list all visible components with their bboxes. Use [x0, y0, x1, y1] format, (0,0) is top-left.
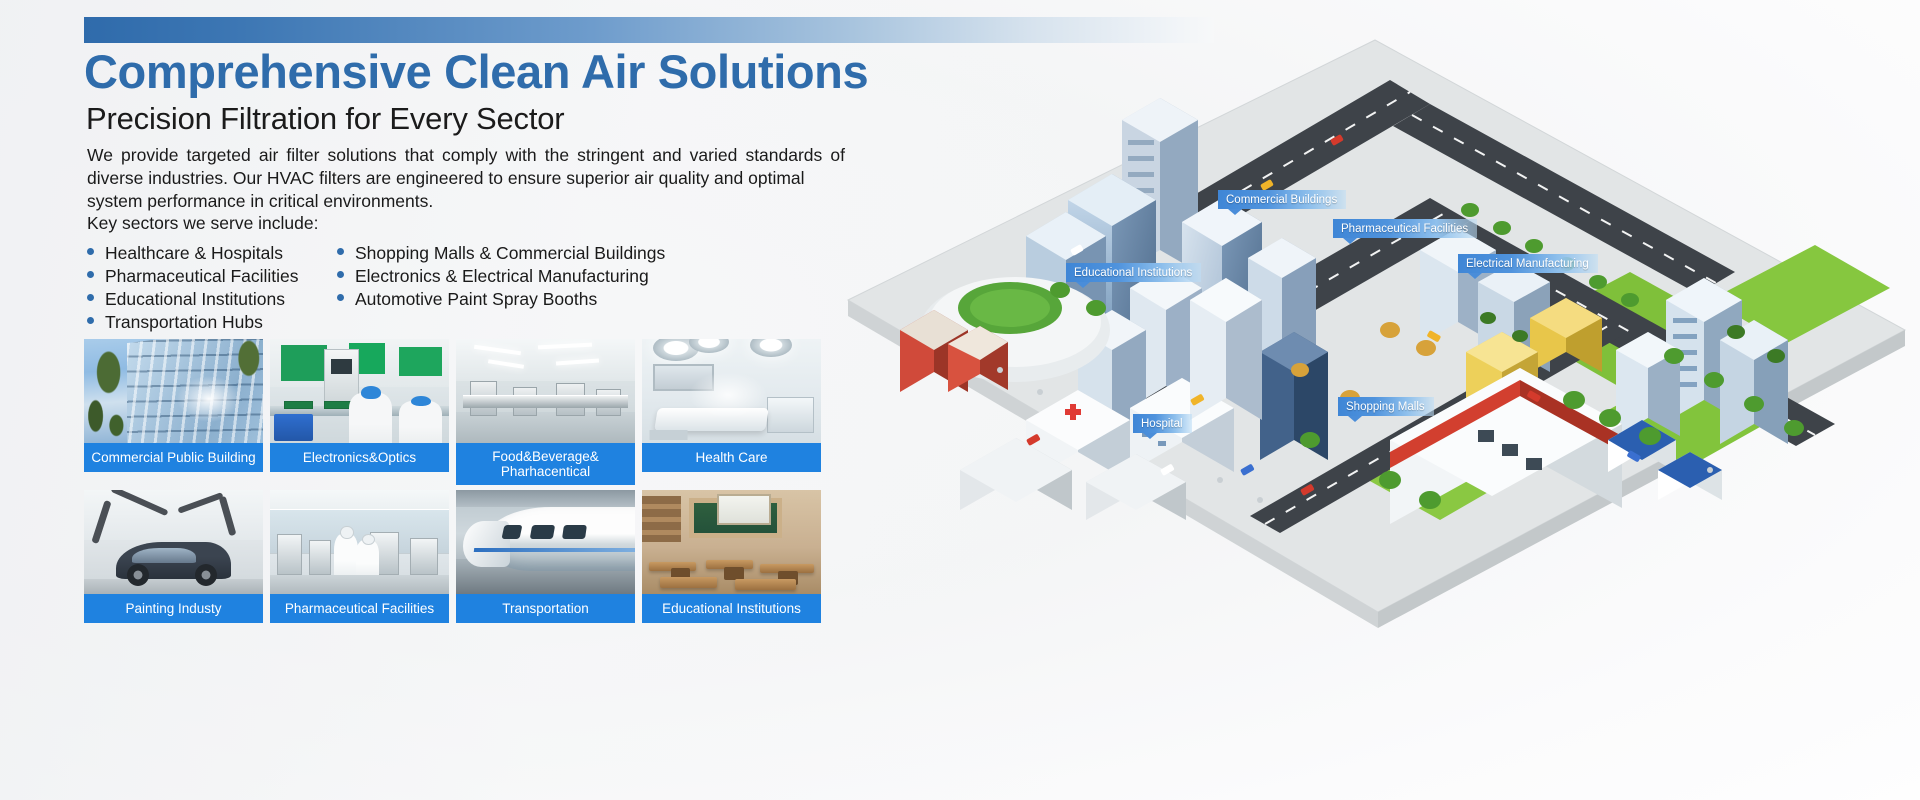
- key-sectors-label: Key sectors we serve include:: [87, 213, 319, 234]
- card-caption: Commercial Public Building: [84, 443, 263, 472]
- page-title: Comprehensive Clean Air Solutions: [84, 46, 868, 99]
- sector-card-commercial-public-building[interactable]: Commercial Public Building: [84, 339, 263, 485]
- card-caption: Painting Industy: [84, 594, 263, 623]
- sector-card-food-beverage-pharmaceutical[interactable]: Food&Beverage&Pharhacentical: [456, 339, 635, 485]
- classroom-photo: [642, 490, 821, 594]
- list-item: Healthcare & Hospitals: [87, 243, 337, 266]
- intro-paragraph-main: We provide targeted air filter solutions…: [87, 145, 845, 188]
- card-caption: Health Care: [642, 443, 821, 472]
- robotic-paint-booth-photo: [84, 490, 263, 594]
- header-accent-bar: [84, 17, 1214, 43]
- map-label-commercial-buildings[interactable]: Commercial Buildings: [1218, 190, 1346, 209]
- list-item: Pharmaceutical Facilities: [87, 266, 337, 289]
- list-item: Shopping Malls & Commercial Buildings: [337, 243, 837, 266]
- intro-paragraph-tail: system performance in critical environme…: [87, 190, 845, 213]
- bullet-dot-icon: [87, 294, 94, 301]
- list-item-label: Shopping Malls & Commercial Buildings: [355, 243, 665, 264]
- sector-card-grid: Commercial Public Building Electronics&O…: [84, 339, 846, 628]
- card-caption: Transportation: [456, 594, 635, 623]
- bullet-dot-icon: [337, 271, 344, 278]
- sector-card-transportation[interactable]: Transportation: [456, 490, 635, 623]
- bullet-dot-icon: [337, 294, 344, 301]
- list-item: Electronics & Electrical Manufacturing: [337, 266, 837, 289]
- list-item-label: Electronics & Electrical Manufacturing: [355, 266, 649, 287]
- list-item: Educational Institutions: [87, 289, 337, 312]
- map-label-educational-institutions[interactable]: Educational Institutions: [1066, 263, 1201, 282]
- left-content-column: Comprehensive Clean Air Solutions Precis…: [84, 0, 944, 800]
- list-item: Automotive Paint Spray Booths: [337, 289, 837, 312]
- sector-card-health-care[interactable]: Health Care: [642, 339, 821, 485]
- sector-list-right: Shopping Malls & Commercial Buildings El…: [337, 243, 837, 335]
- card-caption: Food&Beverage&Pharhacentical: [456, 443, 635, 485]
- list-item-label: Healthcare & Hospitals: [105, 243, 283, 264]
- bullet-dot-icon: [87, 271, 94, 278]
- bullet-dot-icon: [337, 248, 344, 255]
- sector-bullet-lists: Healthcare & Hospitals Pharmaceutical Fa…: [87, 243, 847, 335]
- map-label-shopping-malls[interactable]: Shopping Malls: [1338, 397, 1434, 416]
- list-item-label: Transportation Hubs: [105, 312, 263, 333]
- intro-paragraph: We provide targeted air filter solutions…: [87, 144, 845, 213]
- glass-office-facade-photo: [84, 339, 263, 443]
- sector-card-educational-institutions[interactable]: Educational Institutions: [642, 490, 821, 623]
- map-label-pharmaceutical-facilities[interactable]: Pharmaceutical Facilities: [1333, 219, 1477, 238]
- page-subtitle: Precision Filtration for Every Sector: [86, 101, 564, 137]
- sector-card-painting-industry[interactable]: Painting Industy: [84, 490, 263, 623]
- card-row-1: Commercial Public Building Electronics&O…: [84, 339, 846, 485]
- card-row-2: Painting Industy Pharmaceutical Faciliti…: [84, 490, 846, 623]
- sector-card-electronics-optics[interactable]: Electronics&Optics: [270, 339, 449, 485]
- electronics-assembly-line-photo: [270, 339, 449, 443]
- pharma-filling-line-photo: [270, 490, 449, 594]
- list-item-label: Pharmaceutical Facilities: [105, 266, 299, 287]
- map-label-electrical-manufacturing[interactable]: Electrical Manufacturing: [1458, 254, 1598, 273]
- list-item: Transportation Hubs: [87, 312, 337, 335]
- stainless-cleanroom-corridor-photo: [456, 339, 635, 443]
- list-item-label: Educational Institutions: [105, 289, 285, 310]
- card-caption: Pharmaceutical Facilities: [270, 594, 449, 623]
- infographic-page: Comprehensive Clean Air Solutions Precis…: [0, 0, 1920, 800]
- list-item-label: Automotive Paint Spray Booths: [355, 289, 597, 310]
- sector-card-pharmaceutical-facilities[interactable]: Pharmaceutical Facilities: [270, 490, 449, 623]
- map-label-hospital[interactable]: Hospital: [1133, 414, 1192, 433]
- high-speed-train-photo: [456, 490, 635, 594]
- bullet-dot-icon: [87, 248, 94, 255]
- operating-room-photo: [642, 339, 821, 443]
- card-caption: Educational Institutions: [642, 594, 821, 623]
- sector-list-left: Healthcare & Hospitals Pharmaceutical Fa…: [87, 243, 337, 335]
- bullet-dot-icon: [87, 317, 94, 324]
- card-caption: Electronics&Optics: [270, 443, 449, 472]
